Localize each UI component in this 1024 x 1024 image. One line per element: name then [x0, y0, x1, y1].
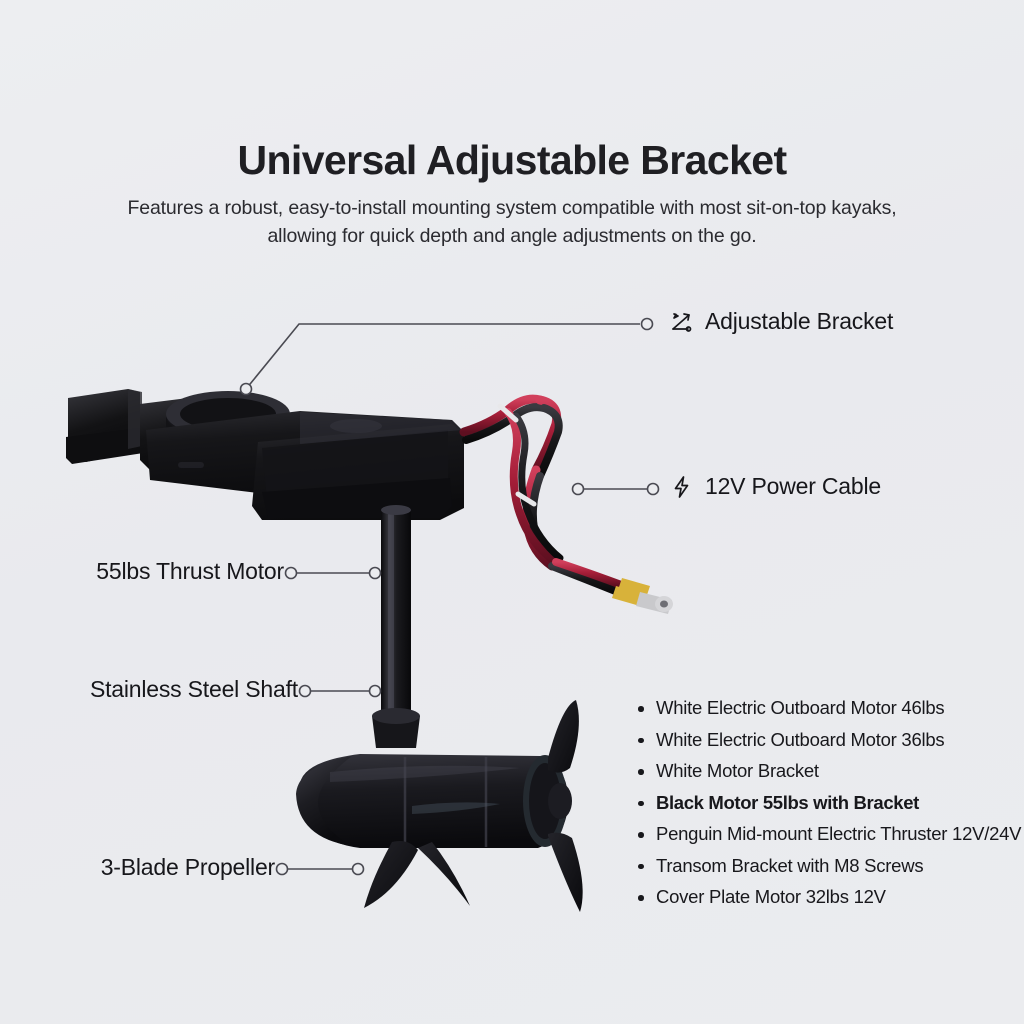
list-item[interactable]: White Motor Bracket: [632, 755, 1024, 787]
callout-propeller[interactable]: 3-Blade Propeller: [0, 854, 275, 881]
callout-power-cable[interactable]: 12V Power Cable: [668, 473, 881, 500]
power-cable: [464, 399, 673, 614]
callout-steel-shaft[interactable]: Stainless Steel Shaft: [0, 676, 298, 703]
motor-housing: [146, 411, 464, 520]
bracket-arm: [66, 389, 252, 470]
leader-adjustable-bracket: [246, 324, 640, 389]
list-item[interactable]: White Electric Outboard Motor 36lbs: [632, 724, 1024, 756]
callout-adjustable-bracket[interactable]: Adjustable Bracket: [668, 308, 893, 335]
callout-label: 55lbs Thrust Motor: [96, 558, 284, 585]
list-item-active[interactable]: Black Motor 55lbs with Bracket: [632, 787, 1024, 819]
header: Universal Adjustable Bracket Features a …: [0, 138, 1024, 251]
callout-label: Stainless Steel Shaft: [90, 676, 298, 703]
steel-shaft: [372, 505, 420, 748]
page-title: Universal Adjustable Bracket: [0, 138, 1024, 182]
list-item[interactable]: Cover Plate Motor 32lbs 12V: [632, 881, 1024, 913]
callout-label: 3-Blade Propeller: [101, 854, 275, 881]
list-item[interactable]: White Electric Outboard Motor 46lbs: [632, 692, 1024, 724]
motor-pod: [296, 754, 568, 848]
propeller: [364, 700, 583, 912]
infographic-canvas: Universal Adjustable Bracket Features a …: [0, 0, 1024, 1024]
list-item[interactable]: Penguin Mid-mount Electric Thruster 12V/…: [632, 818, 1024, 850]
lightning-bolt-icon: [668, 473, 695, 500]
variant-list: White Electric Outboard Motor 46lbs Whit…: [632, 692, 1024, 913]
callout-label: 12V Power Cable: [705, 473, 881, 500]
swivel-mount: [166, 391, 290, 470]
list-item[interactable]: Transom Bracket with M8 Screws: [632, 850, 1024, 882]
callout-label: Adjustable Bracket: [705, 308, 893, 335]
angle-adjust-icon: [668, 308, 695, 335]
callout-thrust-motor[interactable]: 55lbs Thrust Motor: [0, 558, 284, 585]
page-subtitle: Features a robust, easy-to-install mount…: [97, 195, 927, 250]
